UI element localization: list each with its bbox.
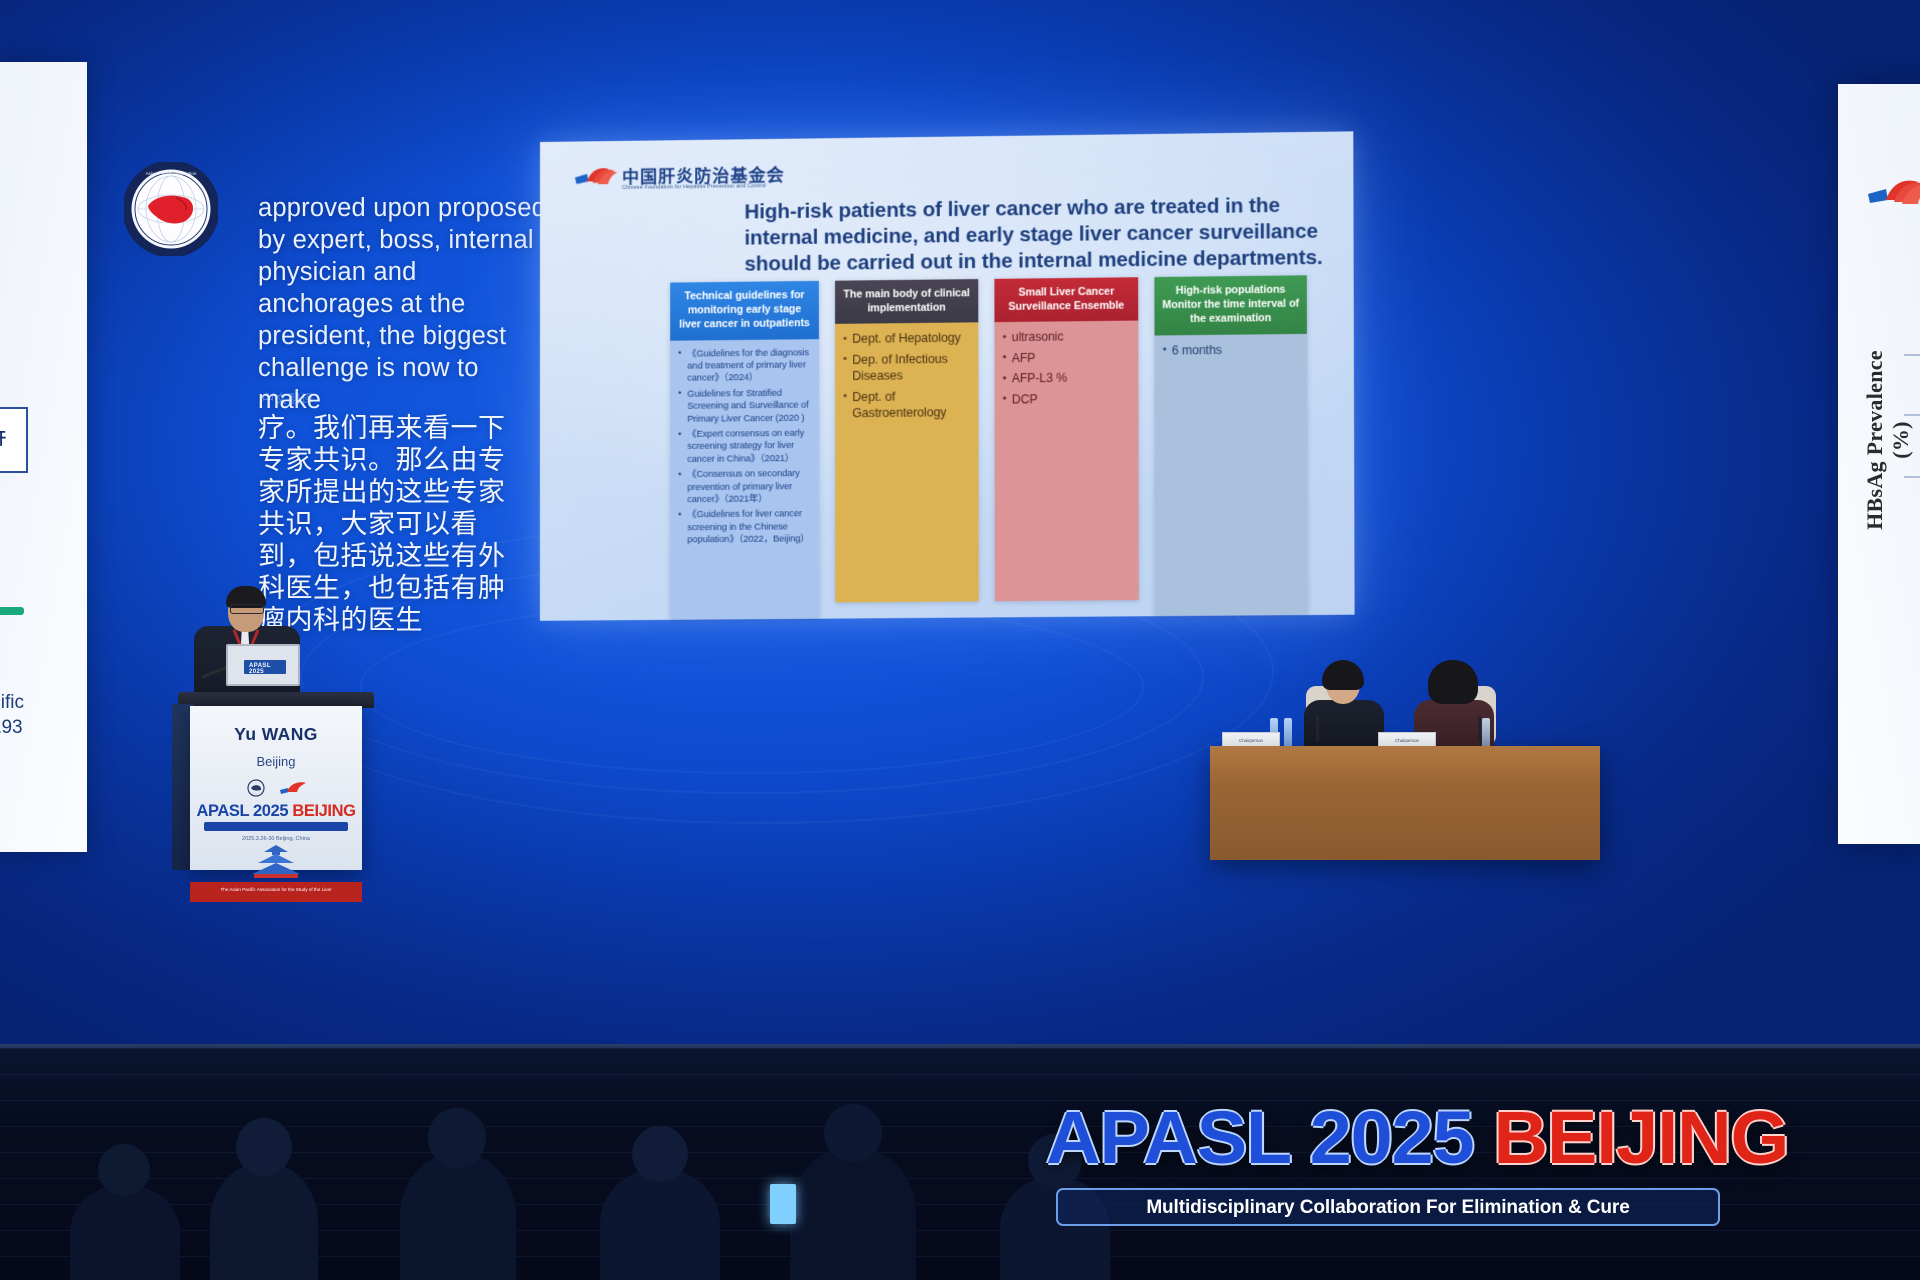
- hbsag-axis-label: HBsAg Prevalence (%): [1862, 330, 1914, 550]
- column-body: Dept. of Hepatology Dep. of Infectious D…: [835, 323, 979, 603]
- audience-member: [790, 1146, 916, 1280]
- caption-label-small: 中文翻译: [262, 390, 442, 407]
- laptop-badge-text: APASL 2025: [249, 663, 286, 675]
- list-item: Guidelines for Stratified Screening and …: [678, 386, 812, 425]
- column-header: Technical guidelines for monitoring earl…: [670, 281, 819, 340]
- list-item: 6 months: [1163, 341, 1300, 360]
- audience-member: [600, 1168, 720, 1280]
- podium-subtext: 2025.3.26-30 Beijing, China: [190, 836, 362, 842]
- audience-head: [98, 1144, 150, 1196]
- conference-wordmark: APASL 2025 BEIJING: [1046, 1096, 1760, 1180]
- list-item: AFP: [1003, 349, 1132, 368]
- caption-english: approved upon proposed by expert, boss, …: [258, 192, 548, 416]
- slide-heading: High-risk patients of liver cancer who a…: [744, 192, 1329, 277]
- svg-text:Asian Pacific Association: Asian Pacific Association: [146, 171, 197, 176]
- wordmark-red: BEIJING: [1493, 1096, 1788, 1179]
- side-screen-green-bar: [0, 607, 24, 615]
- podium-event-logo: APASL 2025 BEIJING: [190, 802, 362, 821]
- list-item: DCP: [1003, 390, 1132, 409]
- axis-tick: [1904, 414, 1920, 416]
- side-screen-box-text: 肝: [0, 425, 6, 449]
- column-header: Small Liver Cancer Surveillance Ensemble: [994, 277, 1138, 322]
- list-item: Dept. of Gastroenterology: [843, 388, 971, 422]
- podium-logo-blue: APASL 2025: [196, 802, 288, 820]
- microphone-icon: [1478, 716, 1481, 742]
- column-header: High-risk populations Monitor the time i…: [1154, 275, 1307, 335]
- cfhpc-logo-icon: [574, 165, 618, 196]
- panel-table-front: [1210, 746, 1600, 860]
- axis-tick: [1904, 476, 1920, 478]
- temple-of-heaven-icon: [248, 844, 304, 878]
- glasses-icon: [230, 604, 264, 614]
- chair-panel-table: Chairperson Chairperson: [1210, 660, 1600, 860]
- slide-column-technical-guidelines: Technical guidelines for monitoring earl…: [670, 281, 819, 619]
- person-hair: [1322, 660, 1364, 690]
- podium-and-speaker: APASL 2025 Yu WANG Beijing APASL 2025 BE…: [170, 580, 390, 870]
- left-side-screen: 肝 Pacific D1193: [0, 62, 87, 852]
- audience-head: [824, 1104, 882, 1162]
- podium-icons: [242, 778, 312, 798]
- audience-head: [428, 1108, 486, 1168]
- audience-member: [400, 1152, 516, 1280]
- audience-member: [210, 1162, 318, 1280]
- projected-slide: 中国肝炎防治基金会 Chinese Foundation for Hepatit…: [540, 131, 1355, 620]
- side-screen-line1: Pacific: [0, 690, 78, 715]
- axis-tick: [1904, 354, 1920, 356]
- list-item: 《Expert consensus on early screening str…: [678, 427, 812, 466]
- person-hair: [1428, 660, 1478, 704]
- list-item: 《Guidelines for the diagnosis and treatm…: [678, 346, 812, 385]
- laptop-screen: APASL 2025: [226, 644, 300, 686]
- conference-tagline-box: Multidisciplinary Collaboration For Elim…: [1056, 1188, 1720, 1226]
- list-item: Dept. of Hepatology: [843, 330, 971, 348]
- foundation-name-en: Chinese Foundation for Hepatitis Prevent…: [622, 183, 766, 191]
- phone-screen: [770, 1184, 796, 1224]
- slide-column-clinical-implementation: The main body of clinical implementation…: [835, 279, 979, 603]
- audience-head: [236, 1118, 292, 1176]
- side-screen-box: 肝: [0, 407, 28, 473]
- apasl-emblem-icon: Asian Pacific Association: [124, 162, 218, 256]
- column-body: 《Guidelines for the diagnosis and treatm…: [670, 339, 819, 619]
- slide-columns: Technical guidelines for monitoring earl…: [670, 275, 1328, 606]
- conference-tagline-text: Multidisciplinary Collaboration For Elim…: [1058, 1197, 1718, 1219]
- slide-column-surveillance-ensemble: Small Liver Cancer Surveillance Ensemble…: [994, 277, 1138, 601]
- podium-front-panel: Yu WANG Beijing APASL 2025 BEIJING 2025.…: [190, 706, 362, 870]
- microphone-icon: [1316, 716, 1319, 742]
- laptop: APASL 2025: [226, 644, 296, 688]
- column-body: 6 months: [1155, 333, 1308, 614]
- auditorium-stage: 肝 Pacific D1193 HBsAg Prevalence (%): [0, 0, 1920, 1280]
- cfhpc-logo-icon: [1866, 176, 1920, 224]
- wordmark-blue: APASL 2025: [1046, 1096, 1474, 1179]
- speaker-city: Beijing: [190, 754, 362, 769]
- list-item: 《Consensus on secondary prevention of pr…: [678, 467, 812, 506]
- nameplate-left-text: Chairperson: [1223, 738, 1279, 743]
- audience-head: [632, 1126, 688, 1182]
- podium-tagline-bar: [204, 822, 348, 831]
- side-screen-line2: D1193: [0, 715, 78, 740]
- laptop-badge: APASL 2025: [244, 660, 286, 674]
- speaker-name: Yu WANG: [190, 724, 362, 745]
- slide-column-high-risk-interval: High-risk populations Monitor the time i…: [1154, 275, 1307, 614]
- water-bottle: [1482, 718, 1490, 748]
- list-item: AFP-L3 %: [1003, 369, 1132, 388]
- podium-red-bar-text: The Asian Pacific Association for the St…: [190, 887, 362, 892]
- right-side-screen: HBsAg Prevalence (%): [1838, 84, 1920, 844]
- side-screen-text: Pacific D1193: [0, 690, 78, 740]
- audience-member: [70, 1184, 180, 1280]
- podium-red-bar: The Asian Pacific Association for the St…: [190, 882, 362, 902]
- conference-logo: APASL 2025 BEIJING Multidisciplinary Col…: [1046, 1096, 1746, 1226]
- podium-logo-red: BEIJING: [292, 802, 355, 820]
- list-item: Dep. of Infectious Diseases: [843, 350, 971, 385]
- list-item: 《Guidelines for liver cancer screening i…: [678, 508, 812, 547]
- column-body: ultrasonic AFP AFP-L3 % DCP: [994, 321, 1138, 602]
- list-item: ultrasonic: [1003, 328, 1132, 347]
- water-bottle: [1284, 718, 1292, 748]
- column-header: The main body of clinical implementation: [835, 279, 978, 324]
- slide-foundation-logo: 中国肝炎防治基金会 Chinese Foundation for Hepatit…: [574, 161, 744, 203]
- nameplate-right-text: Chairperson: [1379, 738, 1435, 743]
